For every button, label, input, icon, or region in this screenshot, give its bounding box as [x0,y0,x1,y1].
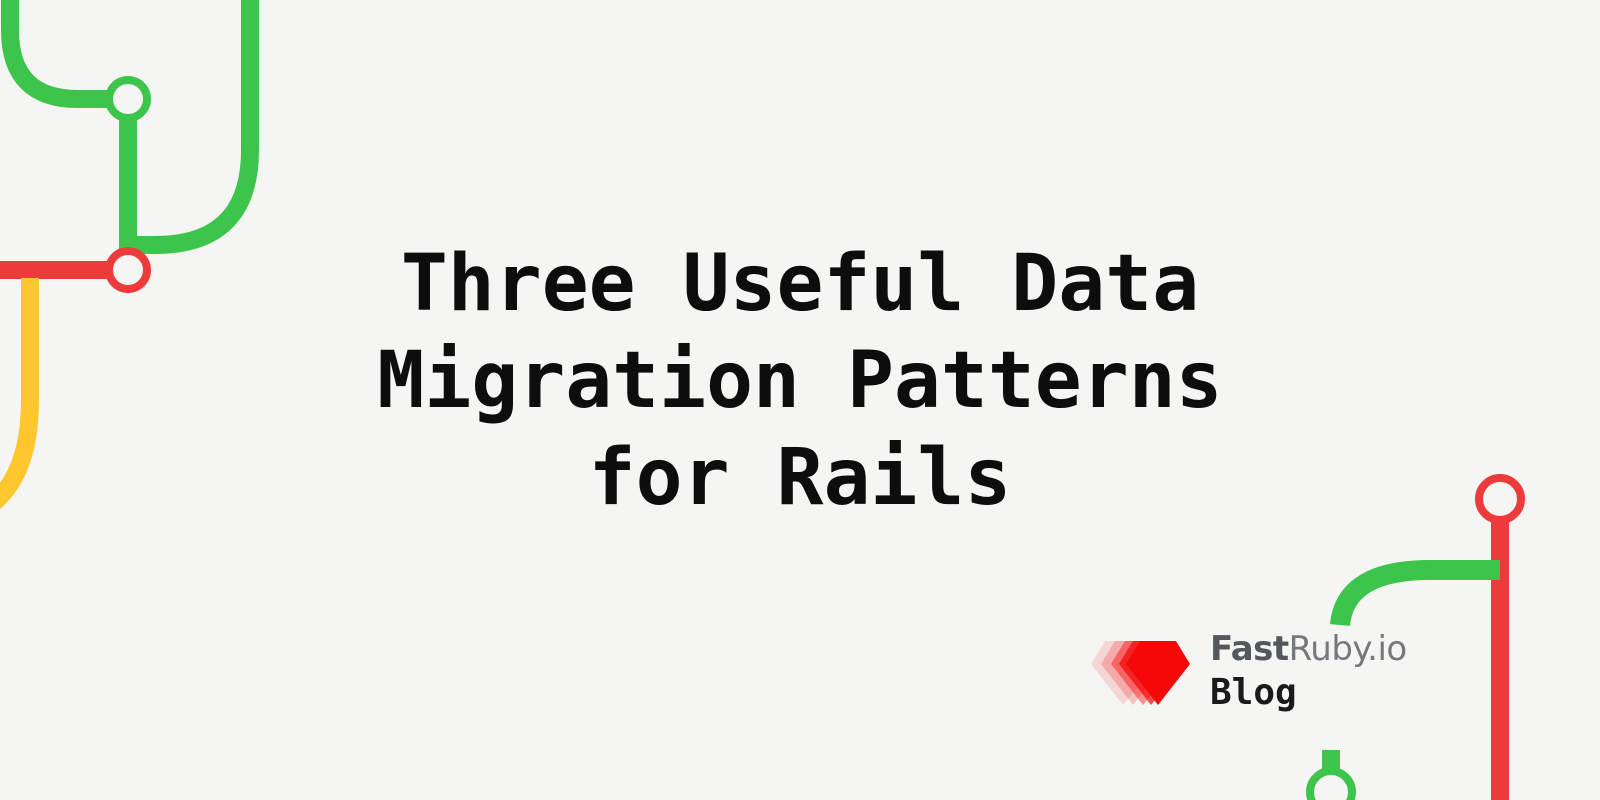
green-node-top-left [109,80,147,118]
yellow-branch-curve [0,278,30,520]
green-node-bottom-right [1310,771,1352,800]
red-node-top-left [109,251,147,289]
brand-text: FastRuby.io Blog [1210,632,1407,711]
title-line-3: for Rails [300,430,1300,527]
title-line-2: Migration Patterns [300,333,1300,430]
green-merge-curve [1340,570,1500,625]
brand-name-light: Ruby.io [1289,629,1407,669]
brand-name-bold: Fast [1210,629,1289,669]
brand-name: FastRuby.io [1210,632,1407,666]
brand-lockup: FastRuby.io Blog [1090,632,1407,711]
green-branch-curve-left [10,0,128,99]
title-line-1: Three Useful Data [300,236,1300,333]
page-title: Three Useful Data Migration Patterns for… [300,236,1300,527]
red-node-bottom-right [1479,478,1521,520]
brand-subtitle: Blog [1210,675,1407,711]
ruby-gem-icon [1090,635,1190,709]
green-branch-curve-right [128,0,250,245]
blog-cover-card: Three Useful Data Migration Patterns for… [0,0,1600,800]
